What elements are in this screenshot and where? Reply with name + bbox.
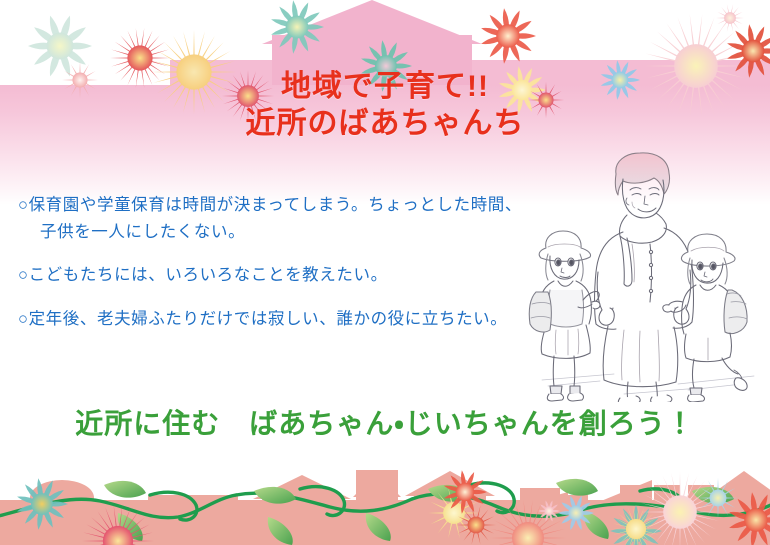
- bullet-marker: ○: [18, 196, 29, 214]
- bullet-item: ○こどもたちには、いろいろなことを教えたい。: [18, 262, 578, 289]
- callout-headline: 近所に住む ばあちゃん・じいちゃんを創ろう！: [0, 402, 770, 442]
- flower-icon: [270, 0, 324, 54]
- bullet-marker: ○: [18, 310, 29, 328]
- bullet-item: ○保育園や学童保育は時間が決まってしまう。ちょっとした時間、 子供を一人にしたく…: [18, 192, 578, 245]
- bullet-text-line1: 定年後、老夫婦ふたりだけでは寂しい、誰かの役に立ちたい。: [29, 310, 508, 328]
- flower-icon: [443, 470, 487, 514]
- flower-icon: [612, 505, 660, 545]
- flower-icon: [538, 500, 560, 522]
- flower-icon: [728, 492, 770, 545]
- bullet-marker: ○: [18, 266, 29, 284]
- bullet-text-line2: 子供を一人にしたくない。: [18, 219, 578, 246]
- flower-icon: [82, 505, 154, 545]
- bullet-text-line1: こどもたちには、いろいろなことを教えたい。: [29, 266, 388, 284]
- bullet-text-line1: 保育園や学童保育は時間が決まってしまう。ちょっとした時間、: [29, 196, 522, 214]
- flower-icon: [16, 478, 68, 530]
- bullet-list: ○保育園や学童保育は時間が決まってしまう。ちょっとした時間、 子供を一人にしたく…: [18, 192, 578, 350]
- poster-canvas: 地域で子育て!! 近所のばあちゃんち ○保育園や学童保育は時間が決まってしまう。…: [0, 0, 770, 545]
- poster-title: 地域で子育て!! 近所のばあちゃんち: [0, 68, 770, 142]
- title-line-2: 近所のばあちゃんち: [0, 105, 770, 142]
- grandmother-children-illustration: [528, 152, 766, 402]
- flower-icon: [480, 8, 536, 64]
- bullet-item: ○定年後、老夫婦ふたりだけでは寂しい、誰かの役に立ちたい。: [18, 306, 578, 333]
- title-line-1: 地域で子育て!!: [0, 68, 770, 105]
- flower-icon: [558, 495, 594, 531]
